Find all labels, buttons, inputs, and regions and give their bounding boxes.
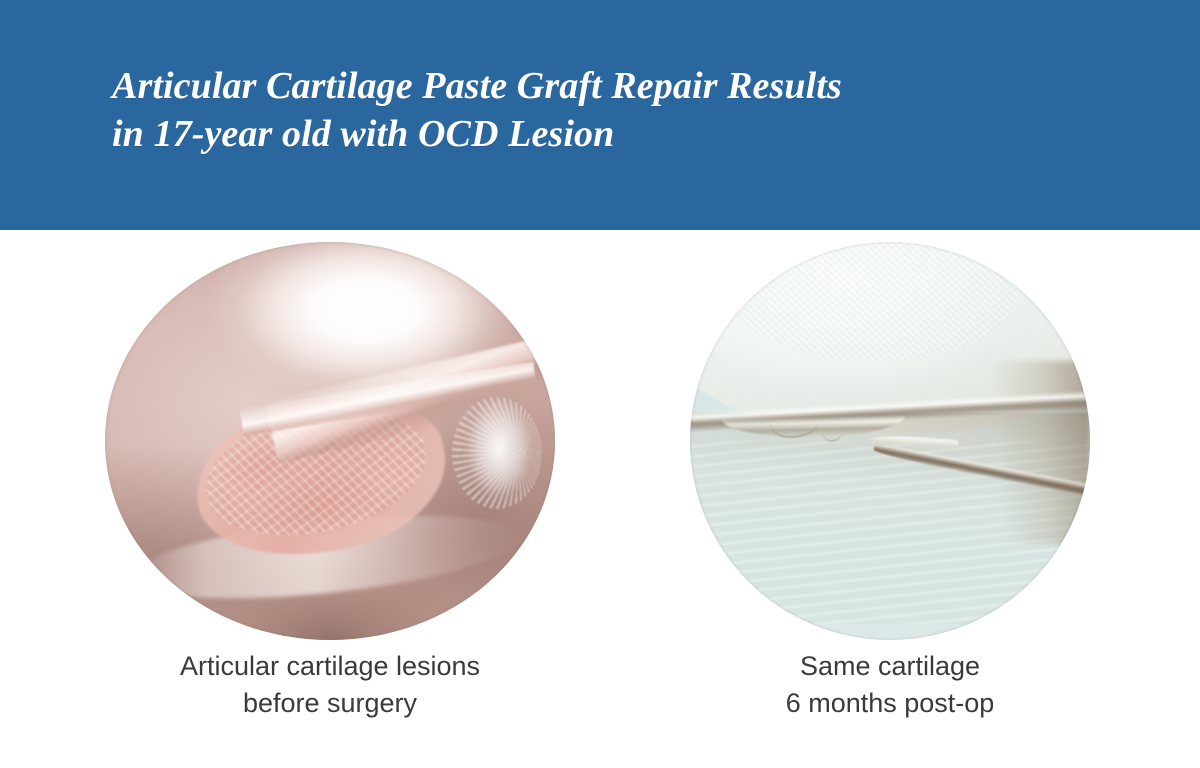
arthroscopy-image-after-wrapper: [690, 242, 1090, 640]
page-title-line-2: in 17-year old with OCD Lesion: [112, 110, 1112, 158]
arthroscopy-image-before-wrapper: [105, 242, 555, 640]
caption-after: Same cartilage 6 months post-op: [620, 648, 1160, 722]
arthroscopy-image-before: [105, 242, 555, 640]
scope-rim-shadow-right: [986, 361, 1090, 544]
page-title-line-1: Articular Cartilage Paste Graft Repair R…: [112, 62, 1112, 110]
page-title: Articular Cartilage Paste Graft Repair R…: [112, 62, 1112, 158]
caption-after-line-1: Same cartilage: [620, 648, 1160, 685]
caption-before-line-1: Articular cartilage lesions: [60, 648, 600, 685]
caption-before: Articular cartilage lesions before surge…: [60, 648, 600, 722]
caption-after-line-2: 6 months post-op: [620, 685, 1160, 722]
caption-before-line-2: before surgery: [60, 685, 600, 722]
header-banner: Articular Cartilage Paste Graft Repair R…: [0, 0, 1200, 230]
figure-area: Articular cartilage lesions before surge…: [0, 230, 1200, 768]
frayed-cartilage-fibers: [452, 397, 542, 508]
arthroscopy-image-after: [690, 242, 1090, 640]
rim-spike-right: [1087, 388, 1090, 405]
